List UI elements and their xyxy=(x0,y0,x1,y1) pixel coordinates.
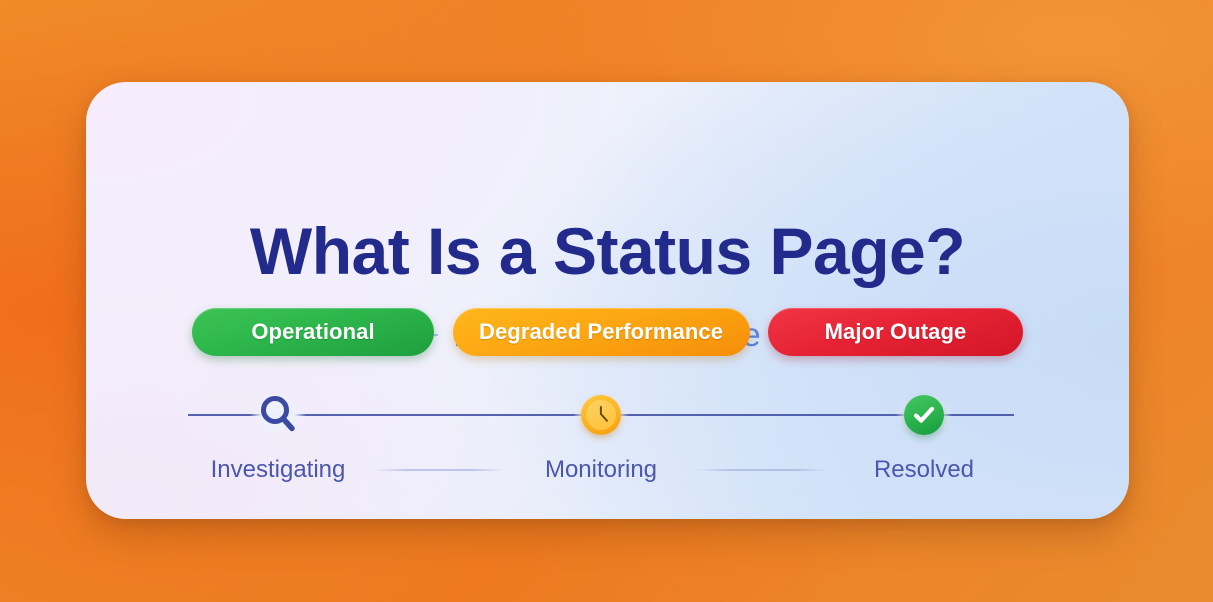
timeline-label-rule-2 xyxy=(697,469,828,471)
incident-timeline: Investigating Monitoring Resolved xyxy=(188,394,1014,494)
timeline-step-resolved[interactable] xyxy=(834,394,1014,436)
magnifier-icon xyxy=(256,394,300,436)
timeline-labels-row: Investigating Monitoring Resolved xyxy=(188,452,1014,488)
status-badge-operational[interactable]: Operational xyxy=(192,308,434,356)
status-badge-major-outage[interactable]: Major Outage xyxy=(768,308,1023,356)
hero-card: What Is a Status Page? 2026 Practical Gu… xyxy=(86,82,1129,519)
clock-icon xyxy=(581,394,621,436)
timeline-icons-row xyxy=(188,394,1014,436)
status-pill-row: Operational Degraded Performance Major O… xyxy=(192,307,1023,357)
status-badge-label: Degraded Performance xyxy=(479,319,723,345)
status-badge-label: Operational xyxy=(251,319,374,345)
clock-hand-minute xyxy=(600,413,608,422)
page-title: What Is a Status Page? xyxy=(86,218,1129,284)
timeline-label-investigating: Investigating xyxy=(188,456,368,484)
timeline-label-rule-1 xyxy=(374,469,505,471)
timeline-step-monitoring[interactable] xyxy=(511,394,691,436)
timeline-step-investigating[interactable] xyxy=(188,394,368,436)
status-badge-degraded-performance[interactable]: Degraded Performance xyxy=(453,308,750,356)
timeline-label-monitoring: Monitoring xyxy=(511,456,691,484)
status-badge-label: Major Outage xyxy=(825,319,967,345)
check-circle-icon xyxy=(904,394,944,436)
timeline-label-resolved: Resolved xyxy=(834,456,1014,484)
